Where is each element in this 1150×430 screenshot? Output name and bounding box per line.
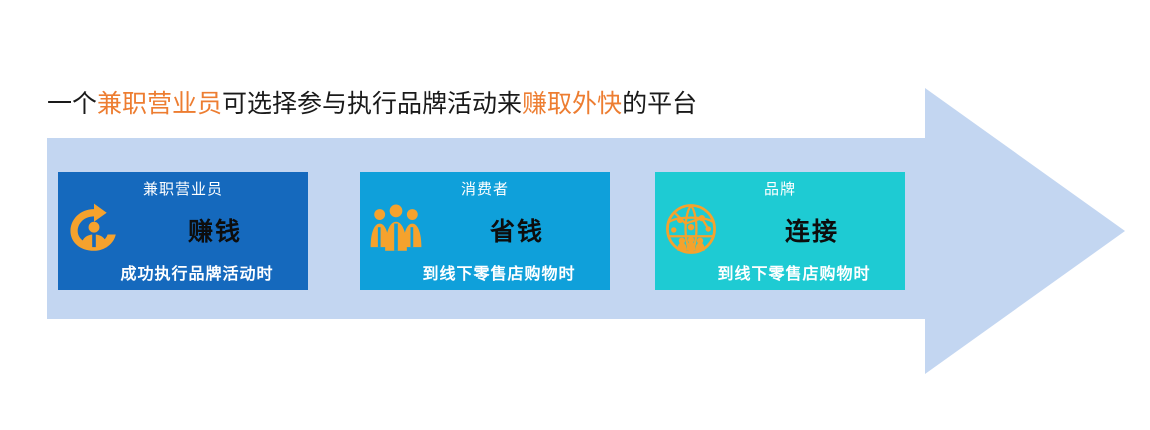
slide-canvas: 一个兼职营业员可选择参与执行品牌活动来赚取外快的平台 兼职营业员 赚钱 成功执行… [0, 0, 1150, 430]
card-header-label: 品牌 [655, 178, 905, 199]
person-circular-arrow-icon [65, 200, 123, 258]
page-title: 一个兼职营业员可选择参与执行品牌活动来赚取外快的平台 [47, 88, 697, 120]
title-segment-1: 兼职营业员 [97, 89, 222, 118]
card-main-label: 连接 [727, 212, 897, 248]
card-header-label: 兼职营业员 [58, 178, 308, 199]
card-consumer[interactable]: 消费者 省钱 到线下零售店购物时 [360, 172, 610, 290]
title-segment-2: 可选择参与执行品牌活动来 [222, 89, 522, 118]
card-main-label: 省钱 [432, 212, 602, 248]
card-part-time-salesperson[interactable]: 兼职营业员 赚钱 成功执行品牌活动时 [58, 172, 308, 290]
card-header-label: 消费者 [360, 178, 610, 199]
globe-network-people-icon [662, 200, 720, 258]
card-main-label: 赚钱 [130, 212, 300, 248]
card-footer-label: 到线下零售店购物时 [360, 260, 610, 284]
title-segment-0: 一个 [47, 89, 97, 118]
arrow-head-icon [925, 88, 1125, 374]
card-brand[interactable]: 品牌 [655, 172, 905, 290]
title-segment-4: 的平台 [622, 89, 697, 118]
card-footer-label: 成功执行品牌活动时 [58, 260, 308, 284]
group-of-people-icon [367, 200, 425, 258]
card-footer-label: 到线下零售店购物时 [655, 260, 905, 284]
title-segment-3: 赚取外快 [522, 89, 622, 118]
